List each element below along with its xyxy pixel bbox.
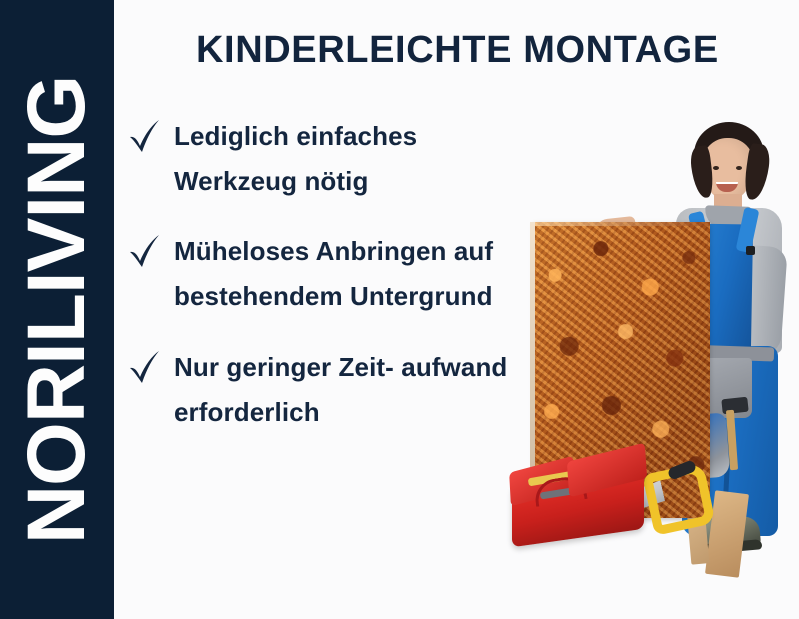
list-item: Müheloses Anbringen auf bestehendem Unte…	[128, 229, 518, 318]
brand-sidebar: NORILIVING	[0, 0, 114, 619]
checkmark-icon	[128, 347, 162, 387]
page-title: KINDERLEICHTE MONTAGE	[196, 30, 719, 72]
overall-buckle-right	[746, 246, 755, 255]
feature-list: Lediglich einfaches Werkzeug nötig Mühel…	[128, 114, 518, 460]
product-photo	[500, 96, 799, 596]
list-item-label: Lediglich einfaches Werkzeug nötig	[174, 114, 518, 203]
red-toolbox	[510, 448, 652, 544]
eye-right	[736, 166, 742, 170]
list-item-label: Müheloses Anbringen auf bestehendem Unte…	[174, 229, 518, 318]
list-item-label: Nur geringer Zeit- aufwand erforderlich	[174, 345, 518, 434]
list-item: Lediglich einfaches Werkzeug nötig	[128, 114, 518, 203]
list-item: Nur geringer Zeit- aufwand erforderlich	[128, 345, 518, 434]
checkmark-icon	[128, 116, 162, 156]
brand-name: NORILIVING	[16, 75, 98, 543]
promo-banner: NORILIVING KINDERLEICHTE MONTAGE Ledigli…	[0, 0, 799, 619]
eye-left	[713, 166, 719, 170]
checkmark-icon	[128, 231, 162, 271]
panel-top-edge	[534, 222, 710, 226]
